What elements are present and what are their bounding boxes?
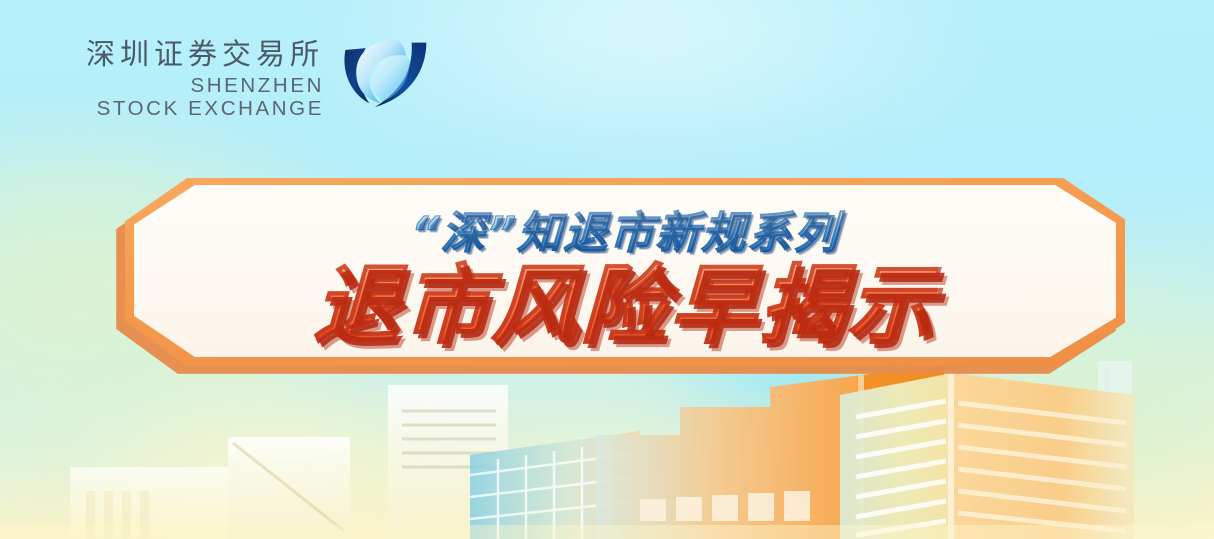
logo-chinese-name: 深圳证券交易所 [86,40,324,69]
banner-subtitle: “深”知退市新规系列 [410,197,841,261]
logo-english-line1: SHENZHEN [97,74,324,97]
logo-text-group: 深圳证券交易所 SHENZHEN STOCK EXCHANGE [86,40,324,120]
logo-english-line2: STOCK EXCHANGE [97,97,324,120]
title-banner: “深”知退市新规系列 退市风险早揭示 [125,178,1125,366]
logo-english-name: SHENZHEN STOCK EXCHANGE [97,74,324,120]
banner-main-title: 退市风险早揭示 [312,261,938,351]
szse-leaf-logo-icon [338,33,430,113]
szse-logo: 深圳证券交易所 SHENZHEN STOCK EXCHANGE [86,40,430,120]
banner-titles: “深”知退市新规系列 退市风险早揭示 [125,178,1125,366]
poster-root: 深圳证券交易所 SHENZHEN STOCK EXCHANGE [0,0,1214,539]
